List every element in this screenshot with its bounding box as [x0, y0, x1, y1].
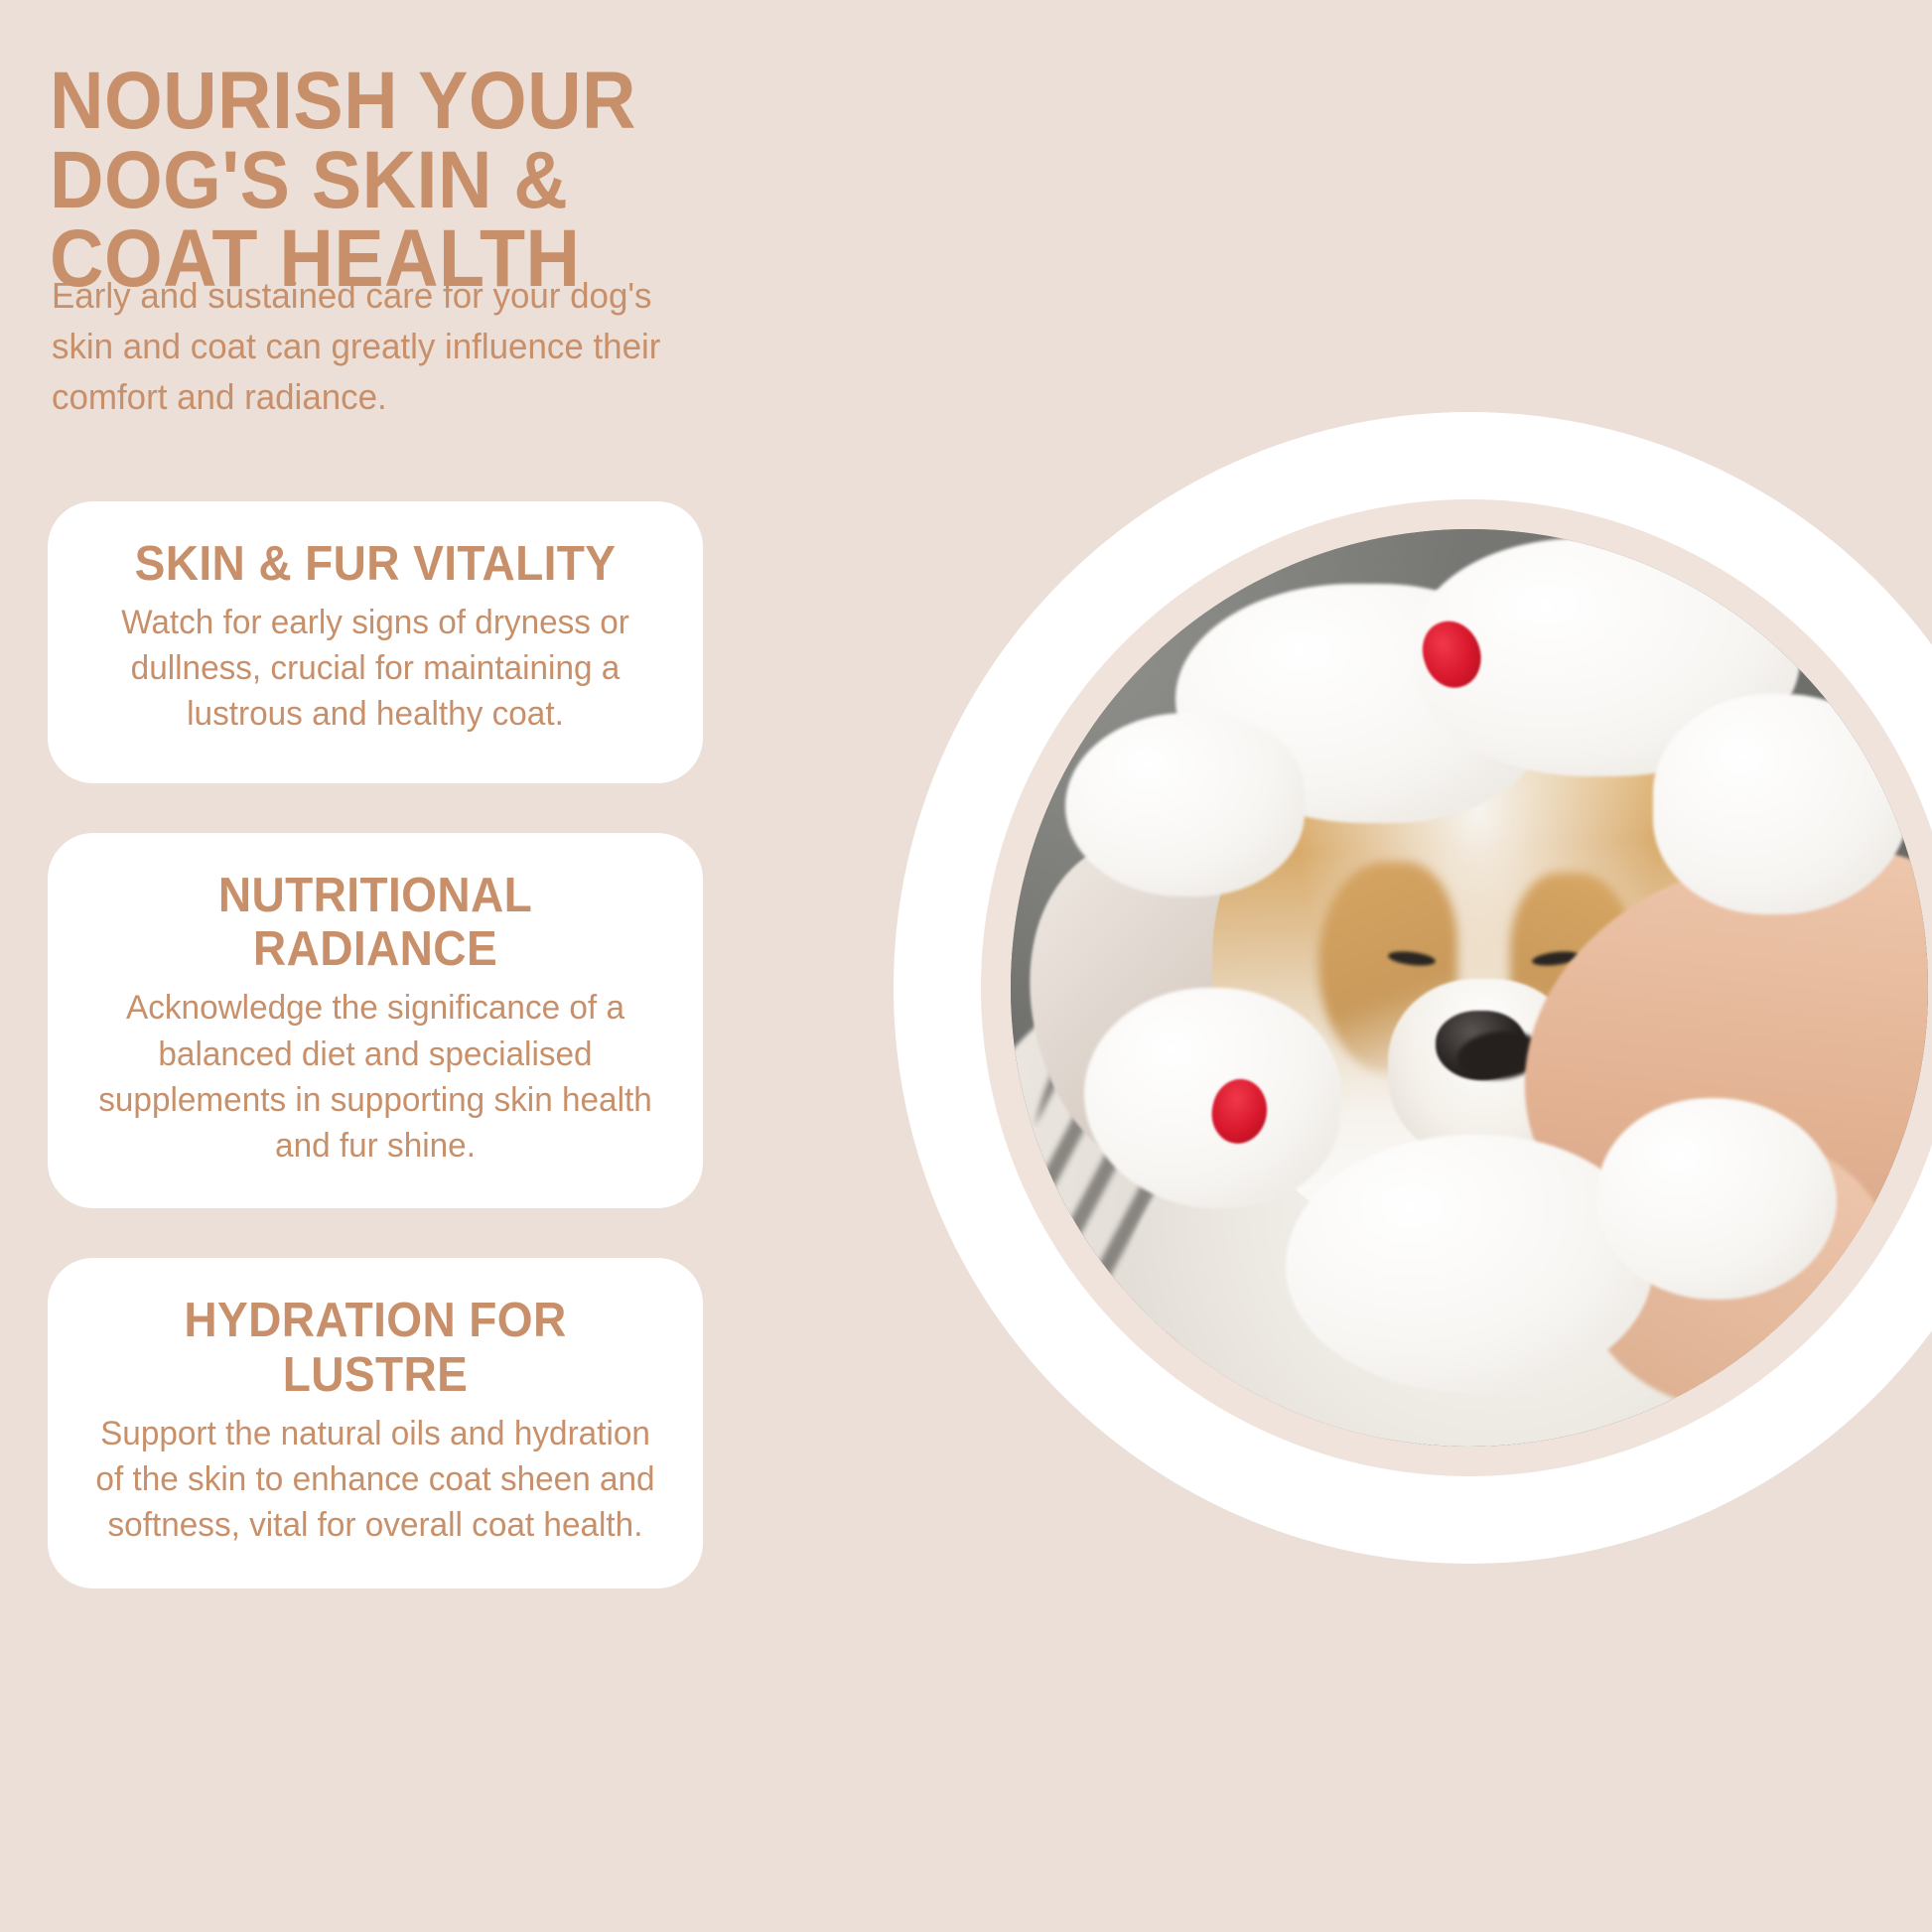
card-title: NUTRITIONAL RADIANCE	[101, 869, 650, 978]
dog-bath-photo	[1011, 529, 1928, 1447]
card-body: Acknowledge the significance of a balanc…	[89, 985, 661, 1169]
card-body: Watch for early signs of dryness or dull…	[89, 600, 661, 738]
photo-medallion	[894, 412, 1932, 1564]
left-content-column: NOURISH YOUR DOG'S SKIN & COAT HEALTH Ea…	[0, 0, 874, 1932]
page-title: NOURISH YOUR DOG'S SKIN & COAT HEALTH	[50, 62, 780, 299]
card-title: SKIN & FUR VITALITY	[101, 537, 650, 592]
feature-card-skin-fur-vitality[interactable]: SKIN & FUR VITALITY Watch for early sign…	[48, 501, 703, 783]
page-subtitle: Early and sustained care for your dog's …	[52, 270, 678, 422]
feature-card-list: SKIN & FUR VITALITY Watch for early sign…	[48, 501, 703, 1638]
feature-card-hydration-for-lustre[interactable]: HYDRATION FOR LUSTRE Support the natural…	[48, 1258, 703, 1587]
card-title: HYDRATION FOR LUSTRE	[180, 1294, 572, 1403]
card-body: Support the natural oils and hydration o…	[89, 1411, 661, 1549]
feature-card-nutritional-radiance[interactable]: NUTRITIONAL RADIANCE Acknowledge the sig…	[48, 833, 703, 1209]
dog-bath-photo-icon	[1011, 529, 1928, 1447]
infographic-canvas: NOURISH YOUR DOG'S SKIN & COAT HEALTH Ea…	[0, 0, 1932, 1932]
